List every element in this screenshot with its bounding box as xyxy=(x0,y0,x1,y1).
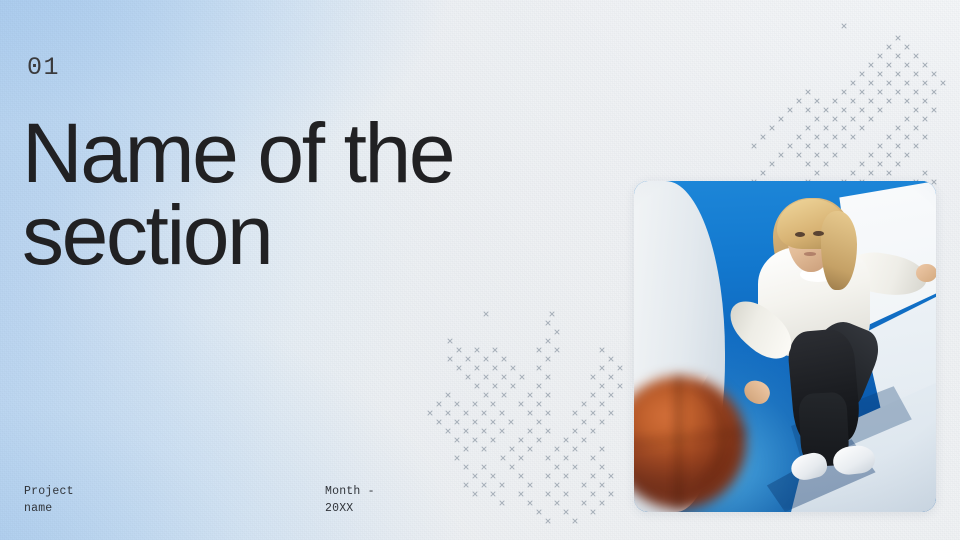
page-title: Name of the section xyxy=(22,112,582,277)
section-photo xyxy=(634,181,936,512)
photo-vignette xyxy=(634,181,936,512)
section-number: 01 xyxy=(27,55,60,80)
footer-date: Month - 20XX xyxy=(325,484,475,517)
footer-project-name: Project name xyxy=(24,484,154,517)
section-divider-slide: 01 Name of the section Project name Mont… xyxy=(0,0,960,540)
